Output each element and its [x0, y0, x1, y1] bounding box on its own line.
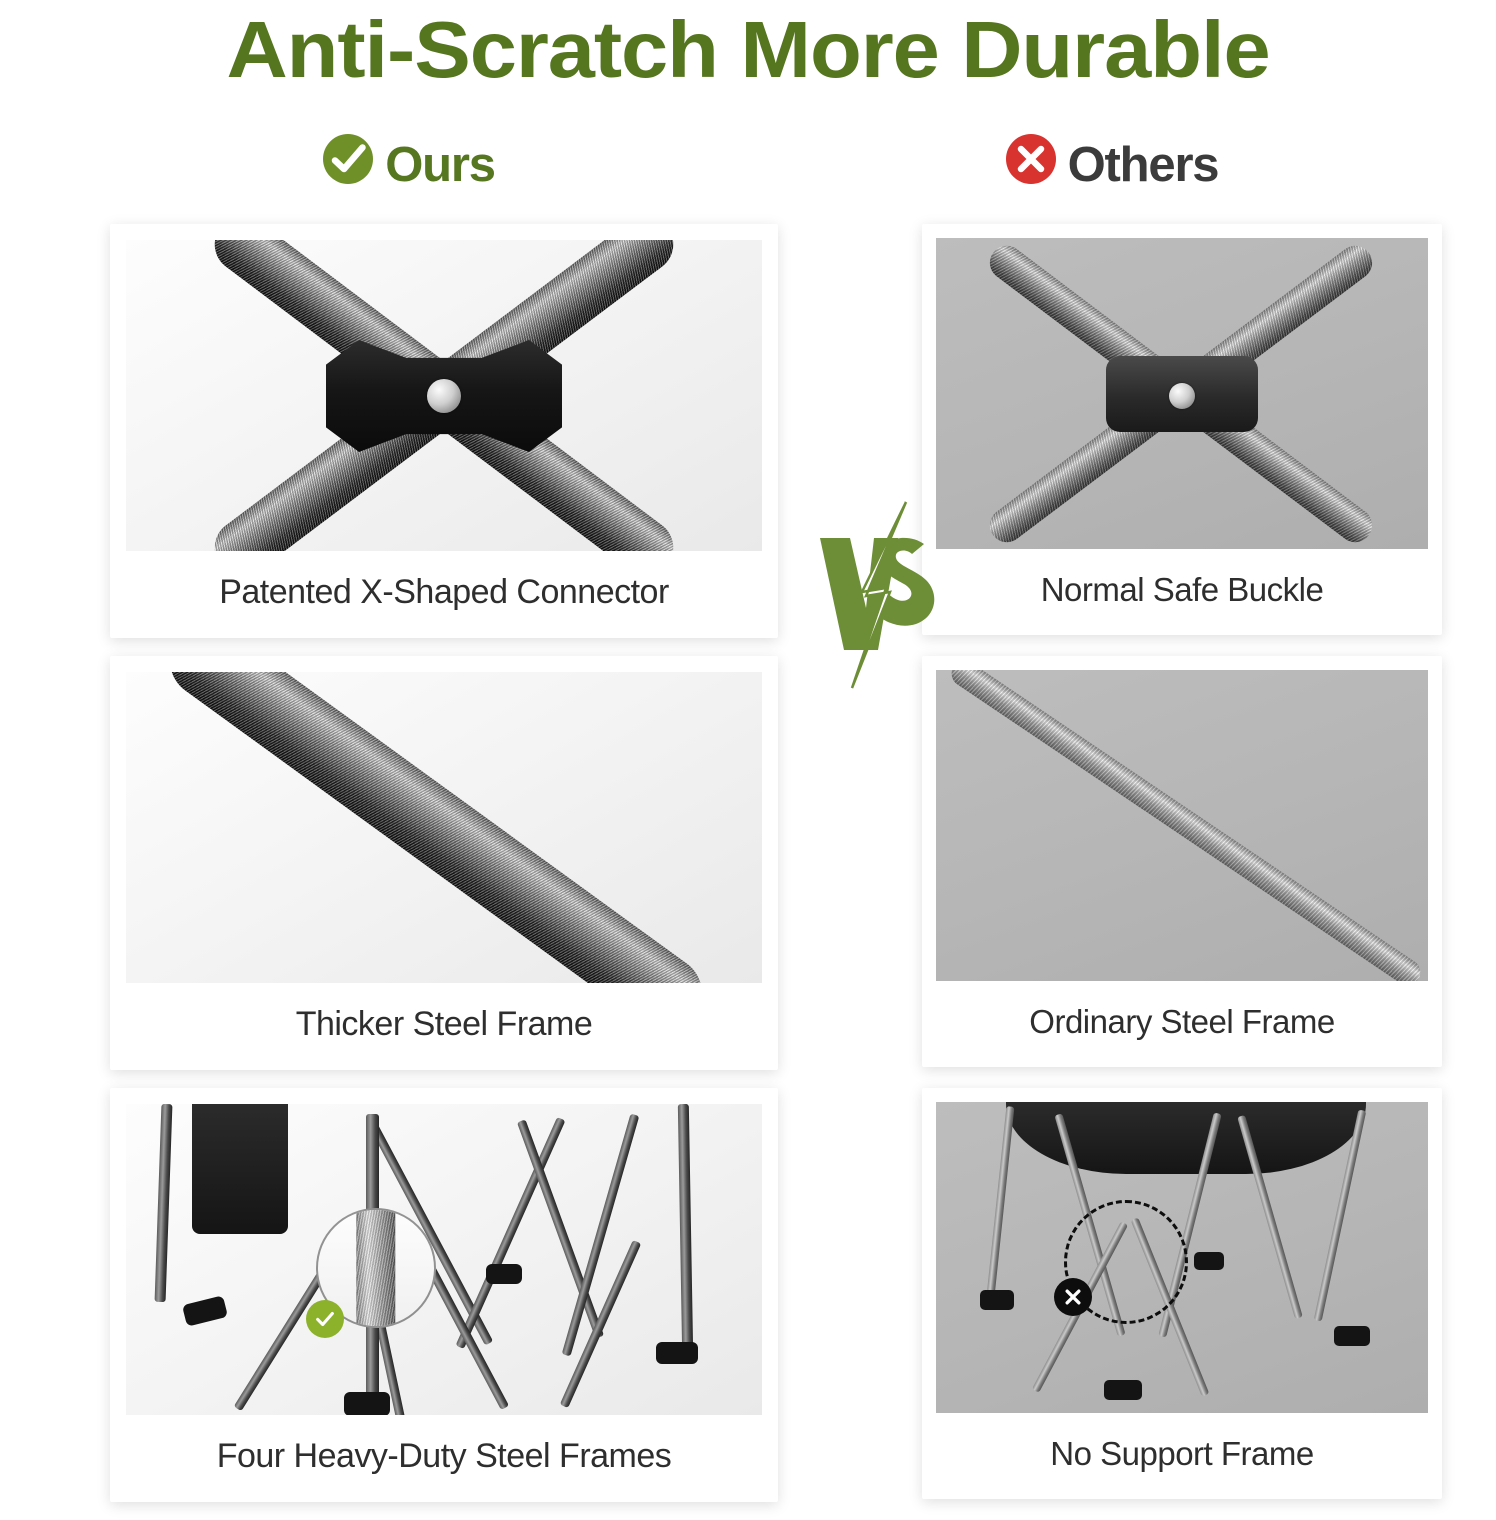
check-marker: [306, 1300, 344, 1338]
comparison-grid: Patented X-Shaped Connector Normal Safe …: [0, 224, 1496, 1520]
rivet-icon: [1169, 383, 1195, 409]
four-steel-frames-photo: [126, 1104, 762, 1415]
card-others-frame: Ordinary Steel Frame: [922, 656, 1442, 1067]
x-shaped-connector-photo: [126, 240, 762, 551]
column-header-ours: Ours: [0, 132, 816, 198]
comparison-row: Four Heavy-Duty Steel Frames: [0, 1088, 1496, 1502]
x-marker: [1054, 1278, 1092, 1316]
card-ours-support: Four Heavy-Duty Steel Frames: [110, 1088, 778, 1502]
card-caption: Four Heavy-Duty Steel Frames: [110, 1415, 778, 1502]
card-caption: No Support Frame: [922, 1413, 1442, 1499]
card-caption: Normal Safe Buckle: [922, 549, 1442, 635]
circle-x-icon: [1004, 132, 1058, 198]
card-caption: Patented X-Shaped Connector: [110, 551, 778, 638]
column-headers: Ours Others: [0, 132, 1496, 198]
ordinary-steel-frame-photo: [936, 670, 1428, 981]
rivet-icon: [427, 379, 461, 413]
cup-holder-pocket: [192, 1104, 288, 1234]
column-header-ours-label: Ours: [385, 137, 495, 193]
comparison-row: Patented X-Shaped Connector Normal Safe …: [0, 224, 1496, 638]
card-others-buckle: Normal Safe Buckle: [922, 224, 1442, 635]
x-icon: [1063, 1287, 1083, 1307]
comparison-row: Thicker Steel Frame Ordinary Steel Frame: [0, 656, 1496, 1070]
page-title: Anti-Scratch More Durable: [0, 0, 1496, 90]
normal-safe-buckle-photo: [936, 238, 1428, 549]
circle-check-icon: [321, 132, 375, 198]
card-ours-frame: Thicker Steel Frame: [110, 656, 778, 1070]
card-ours-connector: Patented X-Shaped Connector: [110, 224, 778, 638]
no-support-frame-photo: [936, 1102, 1428, 1413]
card-others-support: No Support Frame: [922, 1088, 1442, 1499]
thicker-steel-frame-photo: [126, 672, 762, 983]
check-icon: [314, 1308, 336, 1330]
card-caption: Thicker Steel Frame: [110, 983, 778, 1070]
column-header-others-label: Others: [1068, 137, 1219, 193]
column-header-others: Others: [816, 132, 1496, 198]
card-caption: Ordinary Steel Frame: [922, 981, 1442, 1067]
